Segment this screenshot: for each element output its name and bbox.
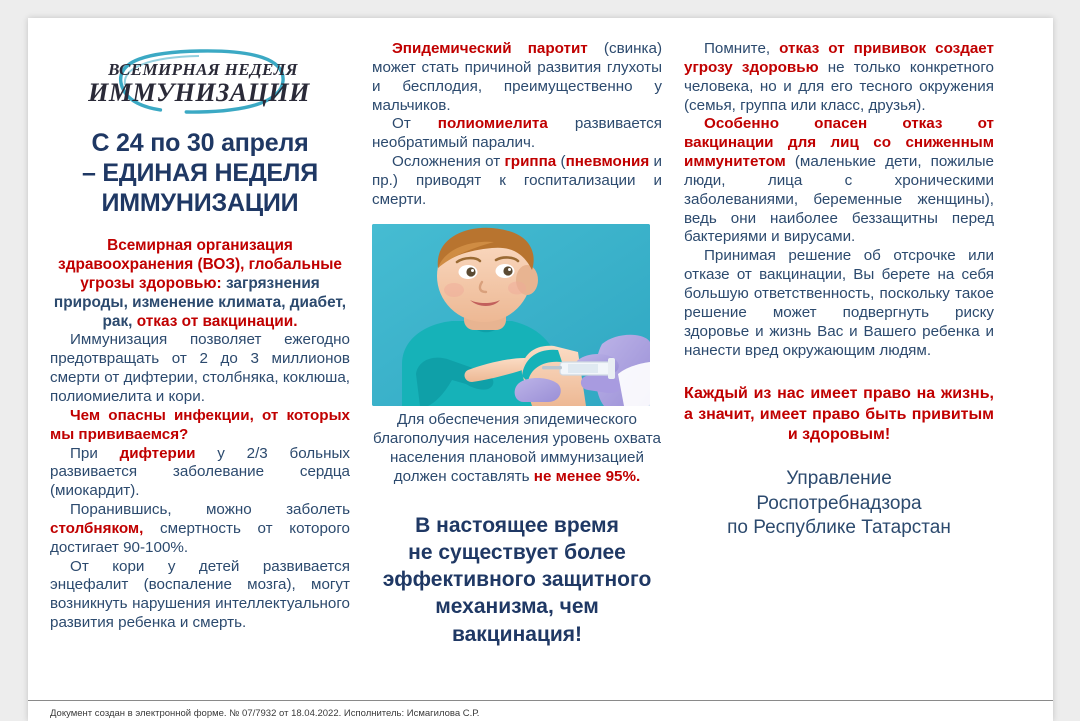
who-intro-red-2: отказ от вакцинации. — [132, 313, 297, 330]
photo-caption: Для обеспечения эпидемического благополу… — [372, 410, 662, 486]
polio-prefix: От — [392, 115, 438, 132]
who-intro-paragraph: Всемирная организация здравоохранения (В… — [50, 236, 350, 331]
left-paragraph-diphtheria: При дифтерии у 2/3 больных развивается з… — [50, 445, 350, 502]
vaccination-photo-svg — [372, 224, 650, 406]
immunization-week-logo: ВСЕМИРНАЯ НЕДЕЛЯ ИММУНИЗАЦИИ — [50, 42, 350, 120]
left-subheading-text: Чем опасны инфекции, от которых мы приви… — [50, 407, 350, 443]
left-paragraph-measles: От кори у детей развивается энцефалит (в… — [50, 558, 350, 633]
right-paragraph-immunocompromised: Особенно опасен отказ от вакцинации для … — [684, 115, 994, 247]
big-statement-l4: механизма, чем — [435, 595, 599, 618]
footer-note: Документ создан в электронной форме. № 0… — [50, 708, 479, 719]
page-title-line1: С 24 по 30 апреля — [91, 129, 308, 157]
left-paragraph-immunization: Иммунизация позволяет ежегодно предотвра… — [50, 331, 350, 406]
flu-prefix: Осложнения от — [392, 153, 504, 170]
column-right: Помните, отказ от прививок создает угроз… — [684, 40, 994, 690]
svg-text:ИММУНИЗАЦИИ: ИММУНИЗАЦИИ — [87, 78, 310, 107]
big-statement-l1: В настоящее время — [415, 514, 619, 537]
page-title-line2: – ЕДИНАЯ НЕДЕЛЯ — [82, 159, 318, 187]
signature-line1: Управление — [786, 468, 892, 489]
vaccination-photo — [372, 224, 650, 406]
signature-line3: по Республике Татарстан — [727, 517, 951, 538]
column-middle: Эпидемический паротит (свинка) может ста… — [372, 40, 662, 690]
poster-page: ВСЕМИРНАЯ НЕДЕЛЯ ИММУНИЗАЦИИ С 24 по 30 … — [28, 18, 1053, 721]
middle-paragraph-flu: Осложнения от гриппа (пневмония и пр.) п… — [372, 153, 662, 210]
page-title: С 24 по 30 апреля – ЕДИНАЯ НЕДЕЛЯ ИММУНИ… — [50, 128, 350, 218]
tetanus-prefix: Поранившись, можно заболеть — [70, 501, 350, 518]
polio-keyword: полиомиелита — [438, 115, 548, 132]
right-paragraph-remember: Помните, отказ от прививок создает угроз… — [684, 40, 994, 115]
poster-columns: ВСЕМИРНАЯ НЕДЕЛЯ ИММУНИЗАЦИИ С 24 по 30 … — [28, 18, 1053, 690]
middle-paragraph-mumps: Эпидемический паротит (свинка) может ста… — [372, 40, 662, 115]
svg-text:ВСЕМИРНАЯ НЕДЕЛЯ: ВСЕМИРНАЯ НЕДЕЛЯ — [107, 60, 299, 79]
middle-big-statement: В настоящее время не существует более эф… — [372, 512, 662, 648]
right-paragraph-responsibility: Принимая решение об отсрочке или отказе … — [684, 247, 994, 360]
logo-svg: ВСЕМИРНАЯ НЕДЕЛЯ ИММУНИЗАЦИИ — [85, 43, 315, 119]
flu-mid: ( — [556, 153, 565, 170]
flu-keyword: гриппа — [504, 153, 556, 170]
remember-prefix: Помните, — [704, 40, 779, 57]
big-statement-l3: эффективного защитного — [383, 568, 652, 591]
middle-paragraph-polio: От полиомиелита развивается необратимый … — [372, 115, 662, 153]
mumps-keyword: Эпидемический паротит — [392, 40, 588, 57]
left-paragraph-tetanus: Поранившись, можно заболеть столбняком, … — [50, 501, 350, 558]
right-slogan: Каждый из нас имеет право на жизнь, а зн… — [684, 384, 994, 444]
pneumonia-keyword: пневмония — [566, 153, 650, 170]
signature-block: Управление Роспотребнадзора по Республик… — [684, 467, 994, 541]
diphtheria-keyword: дифтерии — [120, 445, 196, 462]
tetanus-keyword: столбняком, — [50, 520, 143, 537]
footer-divider — [28, 700, 1053, 701]
signature-line2: Роспотребнадзора — [756, 493, 921, 514]
diphtheria-prefix: При — [70, 445, 120, 462]
photo-caption-highlight: не менее 95%. — [534, 468, 640, 485]
big-statement-l5: вакцинация! — [452, 623, 582, 646]
page-title-line3: ИММУНИЗАЦИИ — [102, 189, 299, 217]
left-subheading-dangers: Чем опасны инфекции, от которых мы приви… — [50, 407, 350, 445]
column-left: ВСЕМИРНАЯ НЕДЕЛЯ ИММУНИЗАЦИИ С 24 по 30 … — [50, 40, 350, 690]
big-statement-l2: не существует более — [408, 541, 626, 564]
